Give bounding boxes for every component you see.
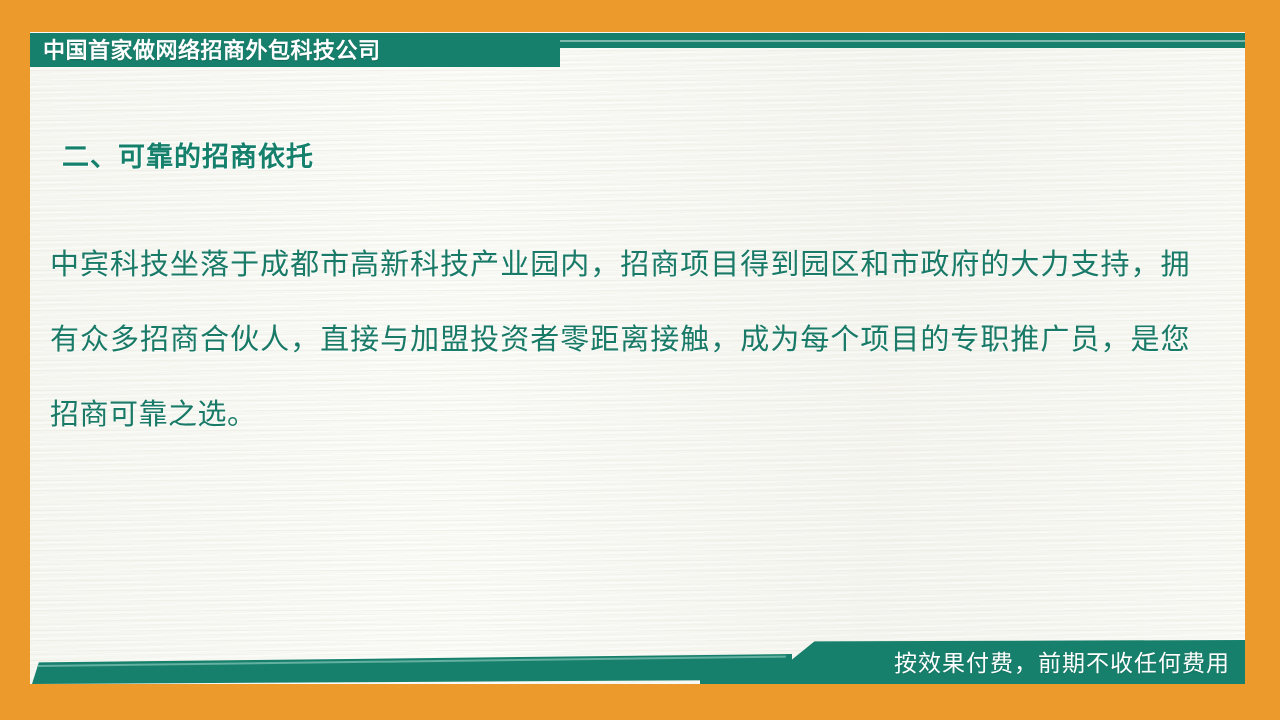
header-title: 中国首家做网络招商外包科技公司 [43,36,381,66]
slide-root: 中国首家做网络招商外包科技公司 二、可靠的招商依托 中宾科技坐落于成都市高新科技… [0,0,1280,720]
section-heading: 二、可靠的招商依托 [62,135,314,174]
footer-tagline: 按效果付费，前期不收任何费用 [894,646,1230,680]
header-accent-line [545,40,1245,42]
section-paragraph: 中宾科技坐落于成都市高新科技产业园内，招商项目得到园区和市政府的大力支持，拥有众… [50,228,1190,453]
